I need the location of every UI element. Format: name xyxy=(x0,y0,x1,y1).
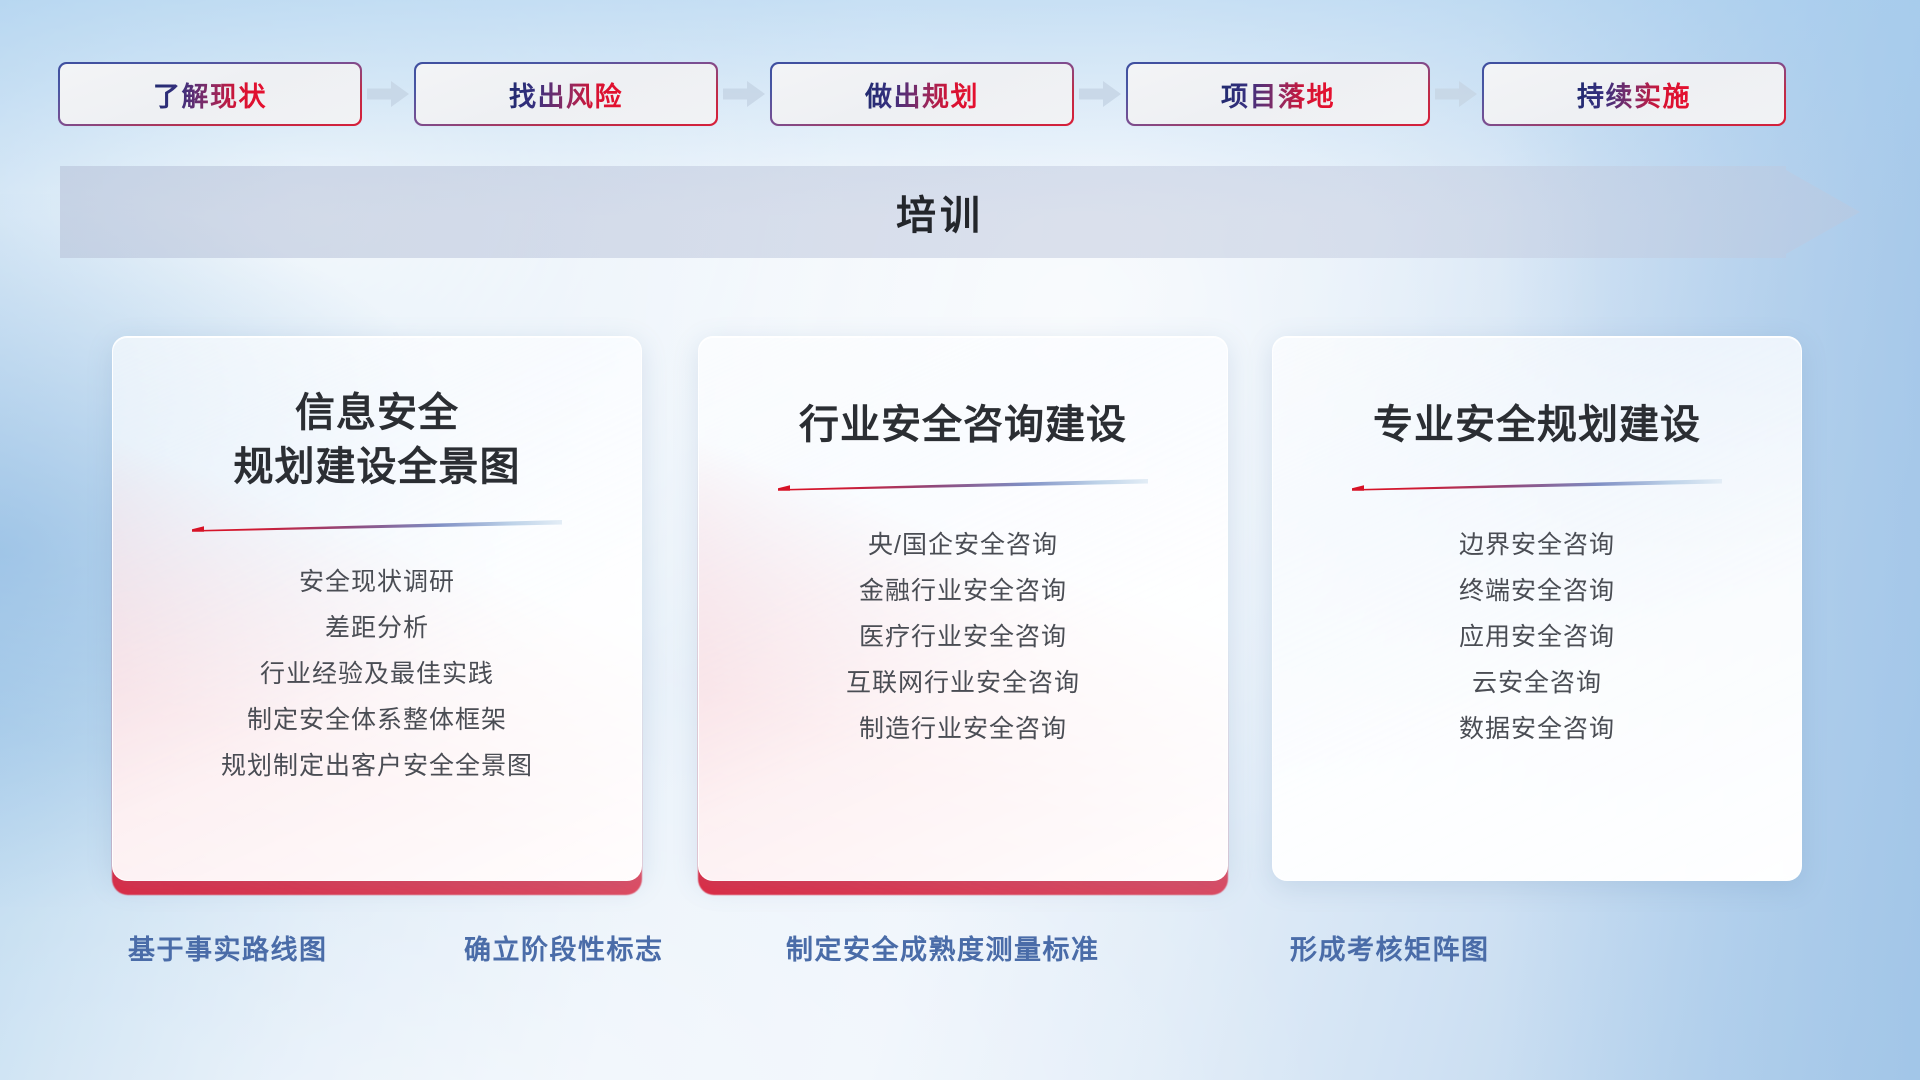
slide-content: 了解现状 找出风险 做出规划 项目落地 持续实施 xyxy=(0,0,1920,1080)
list-item: 金融行业安全咨询 xyxy=(859,571,1067,612)
card-list: 央/国企安全咨询 金融行业安全咨询 医疗行业安全咨询 互联网行业安全咨询 制造行… xyxy=(699,525,1227,750)
card-title: 信息安全 规划建设全景图 xyxy=(234,387,521,494)
card-professional-security-planning[interactable]: 专业安全规划建设 xyxy=(1272,336,1802,881)
list-item: 云安全咨询 xyxy=(1472,663,1602,704)
card-title: 专业安全规划建设 xyxy=(1373,399,1701,453)
list-item: 制造行业安全咨询 xyxy=(859,709,1067,750)
list-item: 安全现状调研 xyxy=(299,562,455,603)
list-item: 差距分析 xyxy=(325,608,429,649)
arrow-right-icon xyxy=(1072,64,1128,124)
process-step-label: 了解现状 xyxy=(153,75,267,114)
footer-label-matrix: 形成考核矩阵图 xyxy=(1290,928,1490,967)
card-title: 行业安全咨询建设 xyxy=(799,399,1127,453)
process-step-label: 持续实施 xyxy=(1577,75,1691,114)
gradient-divider xyxy=(778,479,1148,491)
card-body: 信息安全 规划建设全景图 xyxy=(112,336,642,881)
footer-labels: 基于事实路线图 确立阶段性标志 制定安全成熟度测量标准 形成考核矩阵图 xyxy=(0,928,1920,972)
process-step-label: 找出风险 xyxy=(509,75,623,114)
process-step-label: 做出规划 xyxy=(865,75,979,114)
process-step-4[interactable]: 持续实施 xyxy=(1484,64,1784,124)
process-step-2[interactable]: 做出规划 xyxy=(772,64,1072,124)
list-item: 互联网行业安全咨询 xyxy=(846,663,1080,704)
list-item: 央/国企安全咨询 xyxy=(868,525,1058,566)
card-list: 安全现状调研 差距分析 行业经验及最佳实践 制定安全体系整体框架 规划制定出客户… xyxy=(113,562,641,787)
list-item: 行业经验及最佳实践 xyxy=(260,654,494,695)
list-item: 应用安全咨询 xyxy=(1459,617,1615,658)
arrow-right-icon xyxy=(1428,64,1484,124)
training-banner: 培训 xyxy=(60,166,1860,258)
list-item: 医疗行业安全咨询 xyxy=(859,617,1067,658)
arrow-right-icon xyxy=(360,64,416,124)
process-step-label: 项目落地 xyxy=(1221,75,1335,114)
list-item: 边界安全咨询 xyxy=(1459,525,1615,566)
card-body: 专业安全规划建设 xyxy=(1272,336,1802,881)
footer-label-milestone: 确立阶段性标志 xyxy=(464,928,664,967)
arrow-right-icon xyxy=(716,64,772,124)
gradient-divider xyxy=(192,520,562,532)
footer-label-roadmap: 基于事实路线图 xyxy=(128,928,328,967)
training-banner-label: 培训 xyxy=(60,166,1820,258)
gradient-divider xyxy=(1352,479,1722,491)
card-body: 行业安全咨询建设 xyxy=(698,336,1228,881)
card-list: 边界安全咨询 终端安全咨询 应用安全咨询 云安全咨询 数据安全咨询 xyxy=(1273,525,1801,750)
card-information-security-blueprint[interactable]: 信息安全 规划建设全景图 xyxy=(112,336,642,881)
list-item: 数据安全咨询 xyxy=(1459,709,1615,750)
process-step-flow: 了解现状 找出风险 做出规划 项目落地 持续实施 xyxy=(60,64,1860,124)
process-step-0[interactable]: 了解现状 xyxy=(60,64,360,124)
list-item: 制定安全体系整体框架 xyxy=(247,700,507,741)
process-step-1[interactable]: 找出风险 xyxy=(416,64,716,124)
footer-label-maturity: 制定安全成熟度测量标准 xyxy=(786,928,1100,967)
solution-cards: 信息安全 规划建设全景图 xyxy=(0,336,1920,890)
process-step-3[interactable]: 项目落地 xyxy=(1128,64,1428,124)
card-industry-security-consulting[interactable]: 行业安全咨询建设 xyxy=(698,336,1228,881)
list-item: 规划制定出客户安全全景图 xyxy=(221,746,533,787)
list-item: 终端安全咨询 xyxy=(1459,571,1615,612)
